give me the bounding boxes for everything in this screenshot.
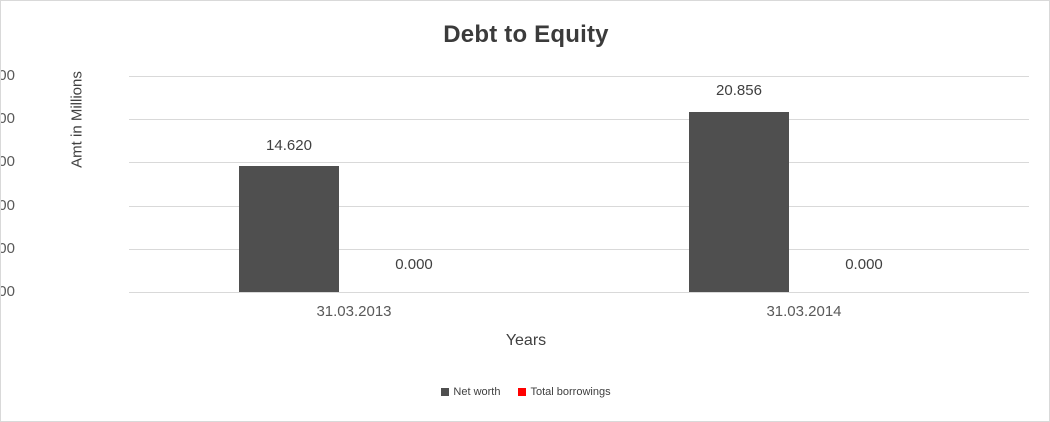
gridline	[129, 76, 1029, 77]
data-label-net-worth-2014: 20.856	[639, 82, 839, 99]
y-tick-label: 10.000	[0, 197, 15, 214]
legend-label-net-worth: Net worth	[453, 386, 500, 398]
chart-container: Debt to Equity Amt in Millions Years 25.…	[0, 0, 1050, 422]
data-label-net-worth-2013: 14.620	[189, 137, 389, 154]
y-tick-label: 25.000	[0, 67, 15, 84]
data-label-total-borrowings-2013: 0.000	[314, 256, 514, 273]
y-tick-label: 20.000	[0, 110, 15, 127]
x-axis-title: Years	[1, 332, 1050, 350]
x-category-label-2014: 31.03.2014	[704, 303, 904, 320]
chart-title: Debt to Equity	[1, 21, 1050, 49]
gridline	[129, 119, 1029, 120]
legend-swatch-icon	[441, 388, 449, 396]
y-axis-title: Amt in Millions	[69, 20, 86, 220]
legend-item-total-borrowings[interactable]: Total borrowings	[518, 386, 610, 398]
bar-net-worth-2013[interactable]	[239, 166, 339, 292]
chart-legend: Net worth Total borrowings	[1, 386, 1050, 398]
y-tick-label: 5.000	[0, 240, 15, 257]
legend-label-total-borrowings: Total borrowings	[530, 386, 610, 398]
y-tick-label: 15.000	[0, 153, 15, 170]
gridline	[129, 292, 1029, 293]
legend-item-net-worth[interactable]: Net worth	[441, 386, 500, 398]
gridline	[129, 162, 1029, 163]
x-category-label-2013: 31.03.2013	[254, 303, 454, 320]
y-tick-label: 0.000	[0, 283, 15, 300]
legend-swatch-icon	[518, 388, 526, 396]
data-label-total-borrowings-2014: 0.000	[764, 256, 964, 273]
